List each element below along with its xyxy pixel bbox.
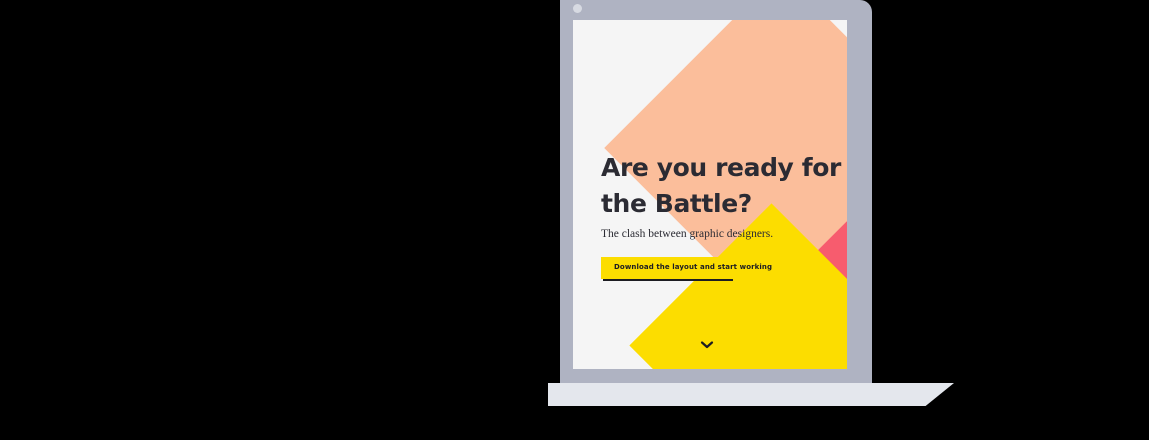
laptop-base <box>548 383 954 406</box>
laptop-lid-bottom-bezel <box>560 369 872 383</box>
hero-section: Are you ready for the Battle? The clash … <box>601 150 847 279</box>
hero-subtitle: The clash between graphic designers. <box>601 227 847 242</box>
laptop-screen: Are you ready for the Battle? The clash … <box>573 20 847 369</box>
scene-root: Are you ready for the Battle? The clash … <box>0 0 1149 440</box>
cta-underline-accent <box>603 279 733 281</box>
download-layout-button[interactable]: Download the layout and start working <box>601 257 785 279</box>
chevron-down-icon[interactable] <box>700 340 714 350</box>
cta-wrapper: Download the layout and start working <box>601 256 785 279</box>
page-title: Are you ready for the Battle? <box>601 150 847 221</box>
webcam-icon <box>573 4 582 13</box>
laptop-mockup: Are you ready for the Battle? The clash … <box>0 0 1149 440</box>
